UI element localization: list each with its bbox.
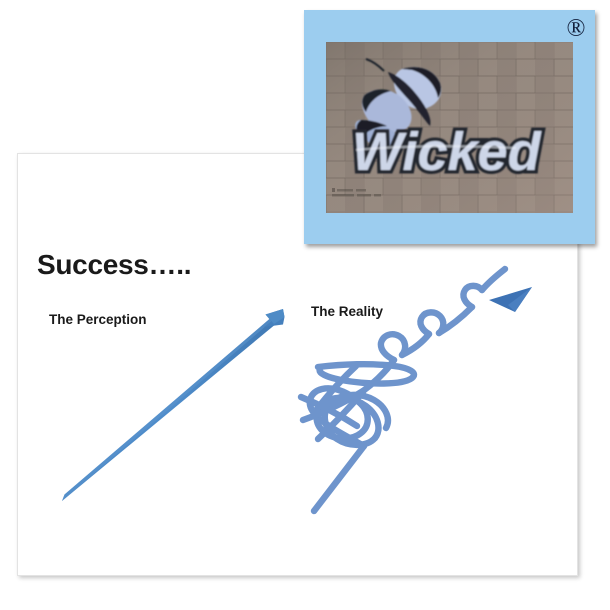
registered-trademark-icon: ® — [563, 16, 589, 42]
wicked-graffiti-text: Wicked Wicked — [352, 122, 542, 182]
graffiti-photograph: Wicked Wicked — [326, 42, 573, 213]
wicked-photo-frame: Wicked Wicked ® — [304, 10, 595, 244]
caption-the-perception: The Perception — [49, 312, 147, 327]
brick-wall-graffiti-image: Wicked Wicked — [326, 42, 573, 213]
caption-the-reality: The Reality — [311, 304, 383, 319]
straight-rising-arrow-icon — [62, 309, 285, 501]
page-title: Success….. — [37, 249, 191, 281]
scribble-arrow-head-icon — [489, 287, 532, 312]
screenshot-stage: Success….. The Perception The Reality — [0, 0, 610, 610]
wicked-text-fill: Wicked — [352, 122, 542, 182]
